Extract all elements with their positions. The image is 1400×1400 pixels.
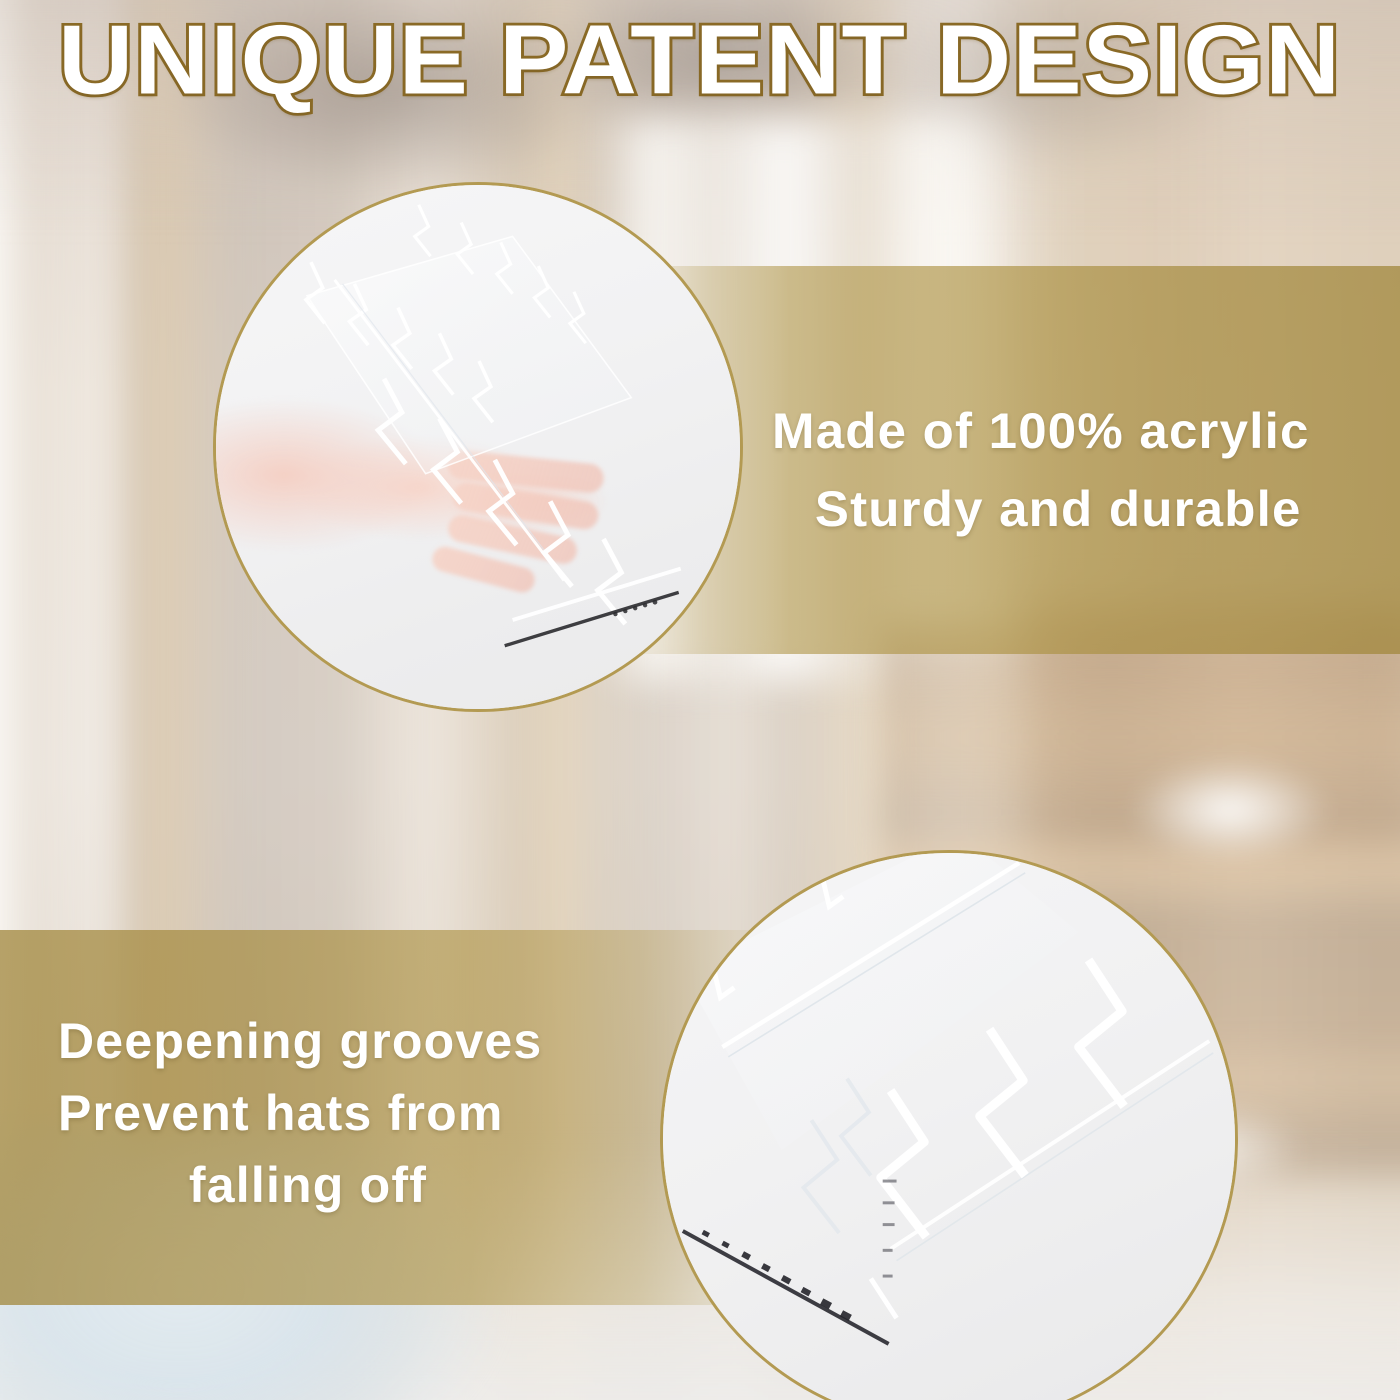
feature-left-line-1: Deepening grooves — [58, 1005, 618, 1077]
acrylic-upper-face — [683, 853, 1079, 1150]
acrylic-base-dark-edge — [505, 592, 679, 645]
photo-circle-bottom — [660, 850, 1238, 1400]
product-infographic: UNIQUE PATENT DESIGN — [0, 0, 1400, 1400]
acrylic-rack-illustration-bottom — [663, 853, 1235, 1400]
feature-right-line-1: Made of 100% acrylic — [772, 392, 1400, 470]
acrylic-back-panel — [307, 236, 631, 473]
feature-left-line-2: Prevent hats from — [58, 1077, 618, 1149]
page-title: UNIQUE PATENT DESIGN — [0, 0, 1400, 120]
photo-circle-bottom-inner — [663, 853, 1235, 1400]
acrylic-rack-illustration-top — [216, 185, 740, 709]
photo-circle-top-inner — [216, 185, 740, 709]
acrylic-base-dash-row — [702, 1230, 852, 1321]
feature-right-line-2: Sturdy and durable — [772, 470, 1400, 548]
page-title-text: UNIQUE PATENT DESIGN — [58, 11, 1341, 110]
photo-circle-top — [213, 182, 743, 712]
feature-left-line-3: falling off — [58, 1149, 618, 1221]
feature-text-right: Made of 100% acrylic Sturdy and durable — [772, 392, 1400, 548]
acrylic-base-top-edge — [513, 569, 681, 620]
acrylic-front-plate-edge-shadow — [897, 1053, 1214, 1261]
acrylic-front-plate-edge — [891, 1041, 1210, 1249]
acrylic-base-dark-line — [683, 1231, 889, 1344]
feature-text-left: Deepening grooves Prevent hats from fall… — [58, 1005, 618, 1221]
acrylic-base-corner — [871, 1279, 897, 1319]
